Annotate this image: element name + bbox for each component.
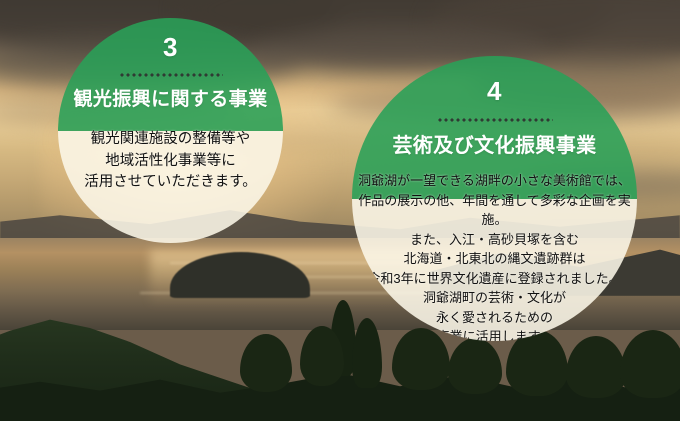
card-4-body-line: 洞爺湖が一望できる湖畔の小さな美術館では、 xyxy=(352,171,637,191)
card-3-body: 観光関連施設の整備等や 地域活性化事業等に 活用させていただきます。 xyxy=(58,129,283,194)
card-4-heading: 芸術及び文化振興事業 xyxy=(352,135,637,158)
card-3-heading: 観光振興に関する事業 xyxy=(58,89,283,111)
tree-silhouette xyxy=(448,338,502,394)
card-4-body-line: 北海道・北東北の縄文遺跡群は xyxy=(352,249,637,269)
card-4-body-line: 事業に活用します。 xyxy=(352,327,637,341)
card-3-body-line: 地域活性化事業等に xyxy=(58,151,283,173)
promo-banner: 3 観光振興に関する事業 観光関連施設の整備等や 地域活性化事業等に 活用させて… xyxy=(0,0,680,421)
card-4-number: 4 xyxy=(352,56,637,104)
card-3-body-line: 活用させていただきます。 xyxy=(58,172,283,194)
tree-silhouette xyxy=(240,334,292,392)
card-circle-3[interactable]: 3 観光振興に関する事業 観光関連施設の整備等や 地域活性化事業等に 活用させて… xyxy=(58,18,283,243)
card-4-body-line: 洞爺湖町の芸術・文化が xyxy=(352,288,637,308)
card-3-body-line: 観光関連施設の整備等や xyxy=(58,129,283,151)
card-4-body-line: 令和3年に世界文化遺産に登録されました。 xyxy=(352,269,637,289)
card-4-body-line: 作品の展示の他、年間を通して多彩な企画を実施。 xyxy=(352,191,637,230)
card-4-body-line: また、入江・高砂貝塚を含む xyxy=(352,230,637,250)
card-3-number: 3 xyxy=(58,18,283,60)
card-4-body: 洞爺湖が一望できる湖畔の小さな美術館では、 作品の展示の他、年間を通して多彩な企… xyxy=(352,171,637,341)
card-3-dotted-divider xyxy=(119,73,223,77)
card-4-dotted-divider xyxy=(437,118,553,122)
tree-silhouette xyxy=(566,336,626,398)
card-circle-4[interactable]: 4 芸術及び文化振興事業 洞爺湖が一望できる湖畔の小さな美術館では、 作品の展示… xyxy=(352,56,637,341)
card-4-body-line: 永く愛されるための xyxy=(352,308,637,328)
